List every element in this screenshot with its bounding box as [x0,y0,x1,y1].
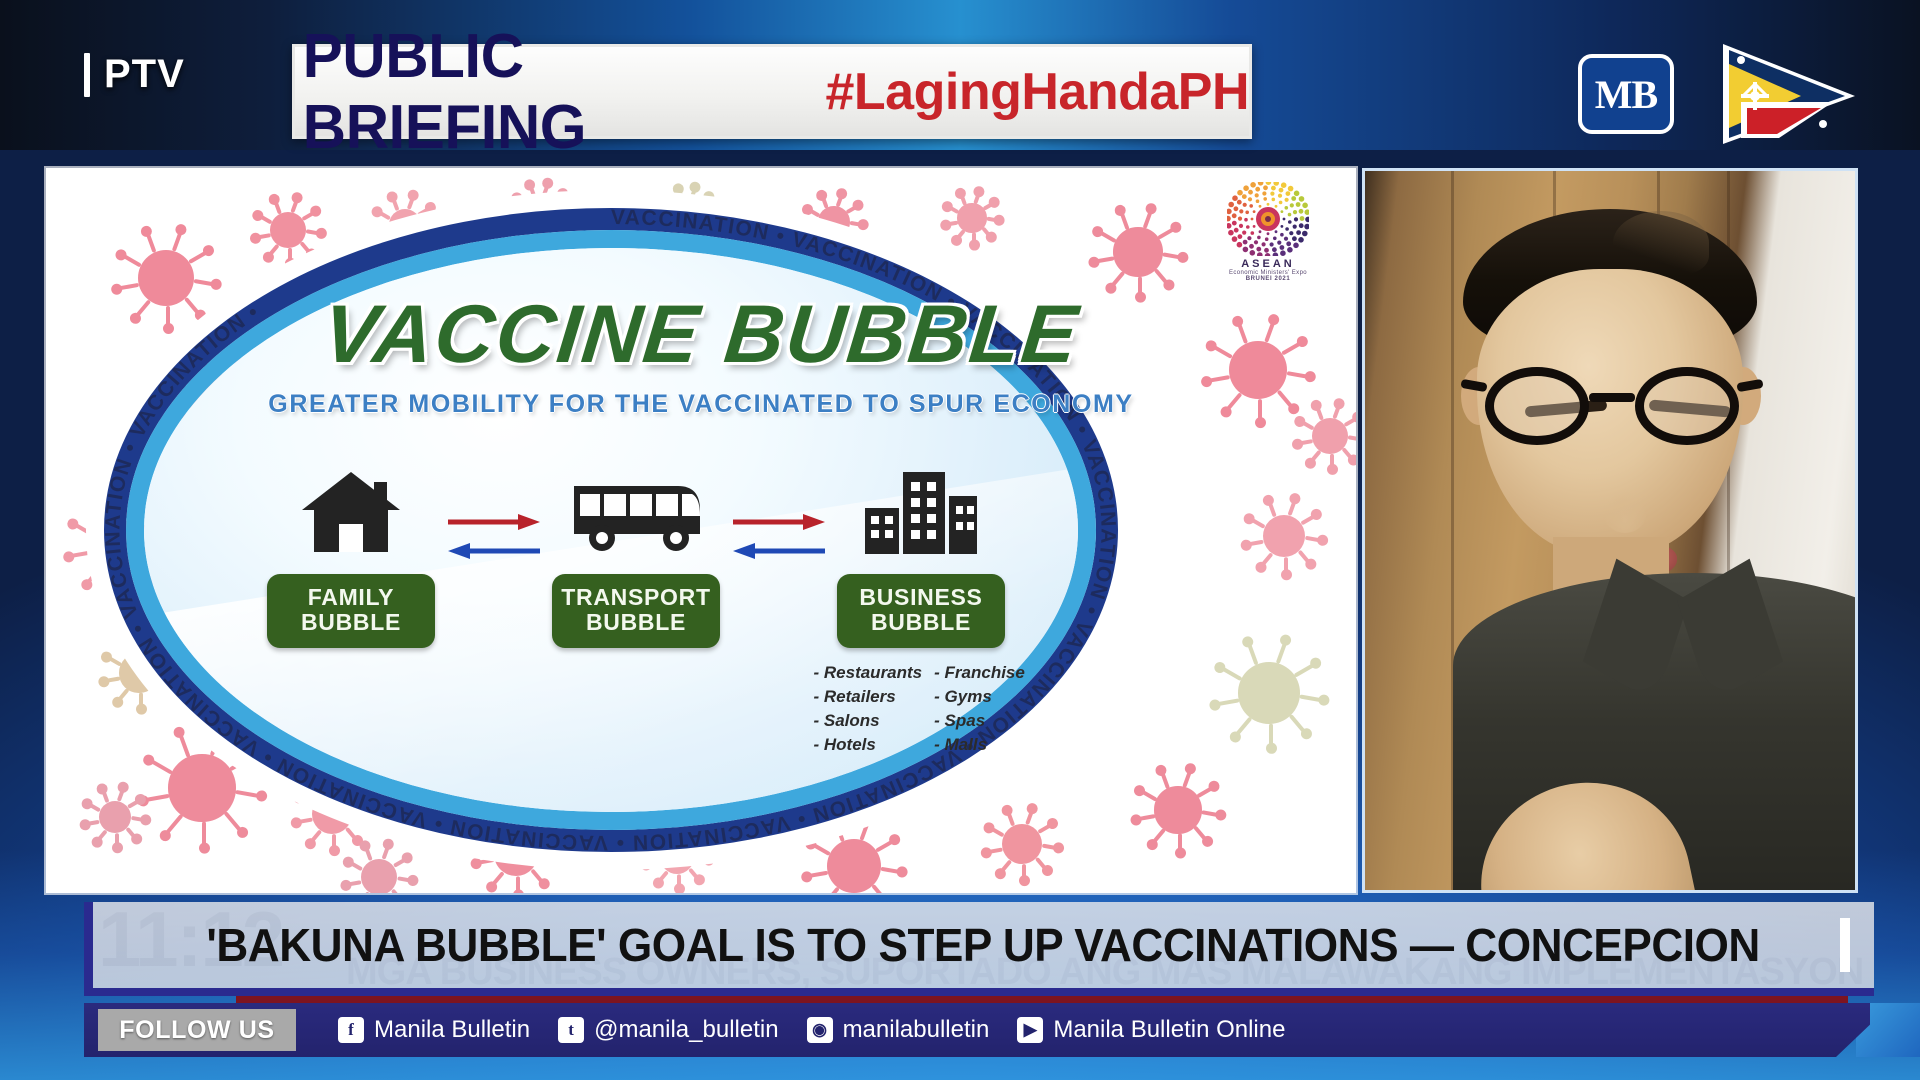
headline-text: 'BAKUNA BUBBLE' GOAL IS TO STEP UP VACCI… [207,918,1760,972]
business-item: - Malls [934,733,1025,757]
eyeglasses-icon [1485,367,1739,445]
business-item: - Restaurants [814,661,923,685]
business-item: - Retailers [814,685,923,709]
arrow-back-icon [733,543,825,559]
footer-social-bar: FOLLOW US fManila Bulletint@manila_bulle… [84,1003,1870,1057]
family-bubble-group: FAMILY BUBBLE [256,468,446,648]
asean-sub2-label: BRUNEI 2021 [1246,276,1291,282]
follow-us-label: FOLLOW US [119,1016,274,1045]
social-handle-item[interactable]: t@manila_bulletin [558,1016,778,1044]
transport-bubble-line2: BUBBLE [552,610,720,635]
lower-third-banner: 11:12 MGA BUSINESS OWNERS, SUPORTADO ANG… [84,902,1874,988]
virus-particle-icon [1214,638,1324,748]
business-item: - Salons [814,709,923,733]
business-items-right-column: - Franchise- Gyms- Spas- Malls [934,661,1025,758]
watermark-bar-icon [84,53,90,97]
infographic-subtitle: GREATER MOBILITY FOR THE VACCINATED TO S… [46,390,1356,419]
social-handle-item[interactable]: fManila Bulletin [338,1016,530,1044]
social-handle-label: Manila Bulletin Online [1053,1016,1285,1044]
asean-logo: ASEAN Economic Ministers' Expo BRUNEI 20… [1212,182,1324,300]
youtube-icon: ▶ [1017,1017,1043,1043]
asean-name-label: ASEAN [1241,258,1295,270]
business-item: - Hotels [814,733,923,757]
broadcast-header: PTV PUBLIC BRIEFING #LagingHandaPH MB [0,0,1920,152]
virus-particle-icon [1136,768,1220,852]
manila-bulletin-logo: MB [1578,54,1674,134]
virus-particle-icon [1246,498,1322,574]
transport-bubble-line1: TRANSPORT [552,585,720,610]
social-handles-list: fManila Bulletint@manila_bulletin◉manila… [338,1016,1285,1044]
house-icon [296,468,406,556]
virus-particle-icon [986,808,1058,880]
public-briefing-banner: PUBLIC BRIEFING #LagingHandaPH [292,44,1252,139]
arrow-forward-icon [448,514,540,530]
business-bubble-items: - Restaurants- Retailers- Salons- Hotels… [814,661,1029,758]
lower-third-underline [84,988,1874,996]
channel-watermark-label: PTV [104,52,185,97]
arrow-back-icon [448,543,540,559]
social-handle-label: @manila_bulletin [594,1016,778,1044]
ptv-logo-icon [1705,38,1865,150]
asean-mark-icon [1227,182,1309,256]
banner-hashtag: #LagingHandaPH [826,62,1250,122]
business-bubble-label: BUSINESS BUBBLE [837,574,1005,648]
virus-particle-icon [346,844,412,893]
family-bubble-line1: FAMILY [267,585,435,610]
family-bubble-line2: BUBBLE [267,610,435,635]
transport-bubble-group: TRANSPORT BUBBLE [541,468,731,648]
infographic-title: VACCINE BUBBLE [46,288,1356,382]
family-bubble-label: FAMILY BUBBLE [267,574,435,648]
banner-title: PUBLIC BRIEFING [303,21,796,163]
social-handle-label: Manila Bulletin [374,1016,530,1044]
business-item: - Franchise [934,661,1025,685]
lower-third-bar: 'BAKUNA BUBBLE' GOAL IS TO STEP UP VACCI… [84,902,1874,988]
arrow-pair-1 [448,514,540,559]
business-bubble-line1: BUSINESS [837,585,1005,610]
arrow-forward-icon [733,514,825,530]
social-handle-item[interactable]: ◉manilabulletin [807,1016,990,1044]
virus-particle-icon [946,192,998,244]
buildings-icon [861,468,981,556]
instagram-icon: ◉ [807,1017,833,1043]
social-handle-label: manilabulletin [843,1016,990,1044]
transport-bubble-label: TRANSPORT BUBBLE [552,574,720,648]
business-item: - Gyms [934,685,1025,709]
business-bubble-group: BUSINESS BUBBLE - Restaurants- Retailers… [826,468,1016,757]
follow-us-chip: FOLLOW US [98,1009,296,1051]
mb-logo-label: MB [1595,71,1657,118]
channel-watermark: PTV [84,52,185,97]
twitter-icon: t [558,1017,584,1043]
lower-third-right-tick [1840,918,1850,972]
bubbles-row: FAMILY BUBBLE [256,468,1016,768]
lower-third-red-accent [236,996,1848,1003]
business-items-left-column: - Restaurants- Retailers- Salons- Hotels [814,661,923,758]
arrow-pair-2 [733,514,825,559]
speaker-video-panel [1362,168,1858,893]
business-bubble-line2: BUBBLE [837,610,1005,635]
social-handle-item[interactable]: ▶Manila Bulletin Online [1017,1016,1285,1044]
facebook-icon: f [338,1017,364,1043]
business-item: - Spas [934,709,1025,733]
virus-particle-icon [86,788,144,846]
virus-particle-icon [1094,208,1182,296]
vaccine-bubble-infographic: VACCINATION • VACCINATION • VACCINATION … [46,168,1356,893]
bus-icon [568,468,704,556]
ptv-triangle-logo [1705,38,1865,150]
